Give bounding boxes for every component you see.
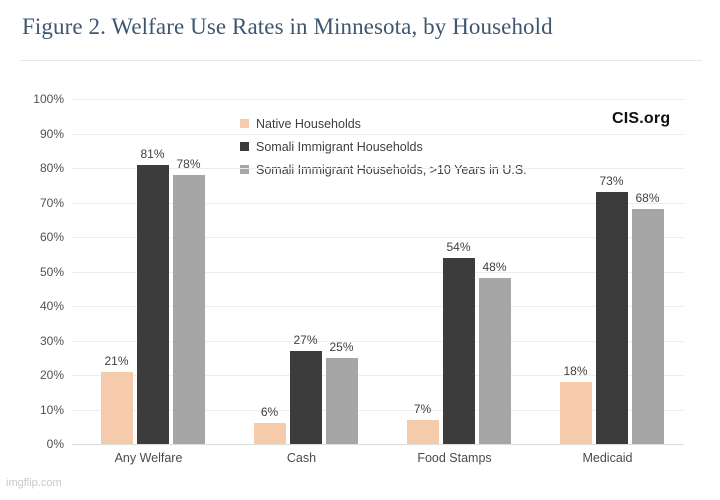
y-axis-tick-label: 60% [8, 231, 64, 243]
bar-value-label: 68% [625, 192, 671, 204]
y-axis-tick-label: 30% [8, 335, 64, 347]
bar-value-label: 25% [319, 341, 365, 353]
page-title: Figure 2. Welfare Use Rates in Minnesota… [22, 14, 553, 40]
bar-value-label: 6% [247, 406, 293, 418]
y-axis-tick-label: 90% [8, 128, 64, 140]
bar-value-label: 21% [94, 355, 140, 367]
gridline [72, 444, 684, 445]
title-divider [20, 60, 702, 61]
y-axis-tick-label: 100% [8, 93, 64, 105]
bar-value-label: 48% [472, 261, 518, 273]
bar-group: 18%73%68% [560, 99, 664, 444]
y-axis-tick-label: 70% [8, 197, 64, 209]
bar-value-label: 73% [589, 175, 635, 187]
bar-value-label: 7% [400, 403, 446, 415]
bar[interactable] [596, 192, 628, 444]
bar[interactable] [407, 420, 439, 444]
bar-group: 6%27%25% [254, 99, 358, 444]
y-axis-tick-label: 0% [8, 438, 64, 450]
y-axis-tick-label: 40% [8, 300, 64, 312]
bar[interactable] [560, 382, 592, 444]
bar-value-label: 78% [166, 158, 212, 170]
bar[interactable] [290, 351, 322, 444]
bar-value-label: 18% [553, 365, 599, 377]
y-axis-tick-label: 20% [8, 369, 64, 381]
chart-container: CIS.org Native Households Somali Immigra… [0, 62, 720, 500]
bar[interactable] [479, 278, 511, 444]
plot-area: 0%10%20%30%40%50%60%70%80%90%100% 21%81%… [72, 99, 684, 444]
host-watermark: imgflip.com [6, 477, 62, 489]
bar[interactable] [173, 175, 205, 444]
y-axis-tick-label: 80% [8, 162, 64, 174]
bar[interactable] [254, 423, 286, 444]
bar[interactable] [326, 358, 358, 444]
bar-value-label: 54% [436, 241, 482, 253]
bar[interactable] [137, 165, 169, 444]
bar[interactable] [443, 258, 475, 444]
bar-group: 7%54%48% [407, 99, 511, 444]
x-axis-category-label: Any Welfare [69, 451, 229, 465]
y-axis-tick-label: 10% [8, 404, 64, 416]
bar[interactable] [632, 209, 664, 444]
x-axis-category-label: Cash [222, 451, 382, 465]
x-axis-category-label: Medicaid [528, 451, 688, 465]
chart-header: Figure 2. Welfare Use Rates in Minnesota… [0, 0, 720, 62]
x-axis-category-label: Food Stamps [375, 451, 535, 465]
bar-group: 21%81%78% [101, 99, 205, 444]
bar[interactable] [101, 372, 133, 444]
y-axis-tick-label: 50% [8, 266, 64, 278]
